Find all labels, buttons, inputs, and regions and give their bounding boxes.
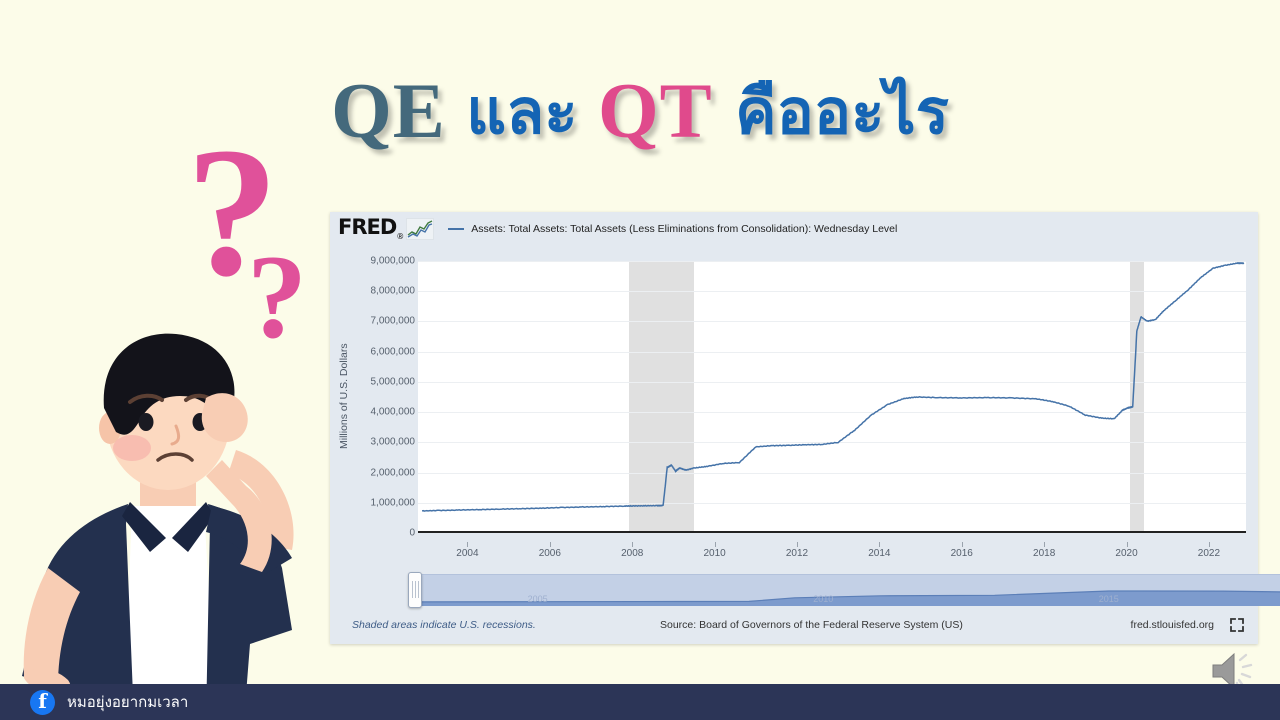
fred-logo-mark: ® — [396, 232, 403, 241]
x-tick-mark — [715, 542, 716, 547]
x-axis-ticks: 2004200620082010201220142016201820202022 — [418, 548, 1246, 568]
title-what-is: คืออะไร — [735, 81, 949, 143]
slide-canvas: QE และ QT คืออะไร ? ? — [0, 0, 1280, 720]
y-tick-label: 1,000,000 — [345, 497, 415, 508]
title-and: และ — [466, 81, 577, 143]
x-tick-label: 2020 — [1115, 548, 1137, 559]
x-tick-label: 2012 — [786, 548, 808, 559]
x-tick-label: 2022 — [1198, 548, 1220, 559]
series-line — [422, 263, 1244, 511]
x-tick-mark — [962, 542, 963, 547]
y-tick-label: 2,000,000 — [345, 467, 415, 478]
y-tick-label: 8,000,000 — [345, 286, 415, 297]
y-tick-label: 9,000,000 — [345, 256, 415, 267]
x-tick-mark — [550, 542, 551, 547]
fred-footer: Shaded areas indicate U.S. recessions. S… — [330, 610, 1258, 644]
chart-source: Source: Board of Governors of the Federa… — [660, 619, 963, 631]
x-tick-label: 2008 — [621, 548, 643, 559]
fred-url[interactable]: fred.stlouisfed.org — [1131, 619, 1214, 631]
legend-series-label: Assets: Total Assets: Total Assets (Less… — [471, 223, 897, 235]
minimap-year-label: 2005 — [528, 594, 548, 604]
fullscreen-icon[interactable] — [1230, 618, 1244, 632]
facebook-glyph: f — [30, 690, 55, 715]
range-handle-left[interactable] — [408, 572, 422, 608]
series-line-layer — [418, 261, 1246, 533]
chart-plot-area: Millions of U.S. Dollars 9,000,0008,000,… — [330, 246, 1258, 546]
chart-range-slider[interactable]: 2005201020152020 — [412, 574, 1280, 606]
x-tick-mark — [1209, 542, 1210, 547]
y-tick-label: 0 — [345, 528, 415, 539]
y-axis-ticks: 9,000,0008,000,0007,000,0006,000,0005,00… — [340, 246, 415, 546]
x-tick-mark — [632, 542, 633, 547]
y-tick-label: 3,000,000 — [345, 437, 415, 448]
fred-sparkline-icon — [406, 218, 434, 240]
fred-logo: FRED® — [338, 217, 403, 241]
chart-canvas — [418, 261, 1246, 533]
x-tick-mark — [879, 542, 880, 547]
x-tick-label: 2006 — [539, 548, 561, 559]
x-tick-mark — [1044, 542, 1045, 547]
title-qt: QT — [598, 72, 713, 150]
facebook-icon[interactable]: f — [30, 690, 55, 715]
x-tick-label: 2014 — [868, 548, 890, 559]
recession-note: Shaded areas indicate U.S. recessions. — [352, 619, 536, 631]
x-tick-label: 2010 — [703, 548, 725, 559]
minimap-year-label: 2010 — [813, 594, 833, 604]
brand-bar: f หมอยุ่งอยากมเวลา — [0, 684, 1280, 720]
x-tick-mark — [797, 542, 798, 547]
confused-person-illustration — [0, 300, 340, 720]
fred-header: FRED® Assets: Total Assets: Total Assets… — [330, 212, 1258, 246]
x-tick-mark — [467, 542, 468, 547]
y-tick-label: 5,000,000 — [345, 376, 415, 387]
minimap-year-label: 2015 — [1099, 594, 1119, 604]
x-tick-label: 2004 — [456, 548, 478, 559]
page-name-label: หมอยุ่งอยากมเวลา — [67, 690, 188, 714]
fred-logo-text: FRED — [338, 215, 396, 239]
y-tick-label: 6,000,000 — [345, 346, 415, 357]
y-tick-label: 7,000,000 — [345, 316, 415, 327]
x-tick-label: 2018 — [1033, 548, 1055, 559]
y-tick-label: 4,000,000 — [345, 407, 415, 418]
title-qe: QE — [331, 72, 446, 150]
x-tick-label: 2016 — [951, 548, 973, 559]
x-tick-mark — [1127, 542, 1128, 547]
fred-chart-panel: FRED® Assets: Total Assets: Total Assets… — [330, 212, 1258, 644]
legend-color-swatch — [448, 228, 464, 230]
